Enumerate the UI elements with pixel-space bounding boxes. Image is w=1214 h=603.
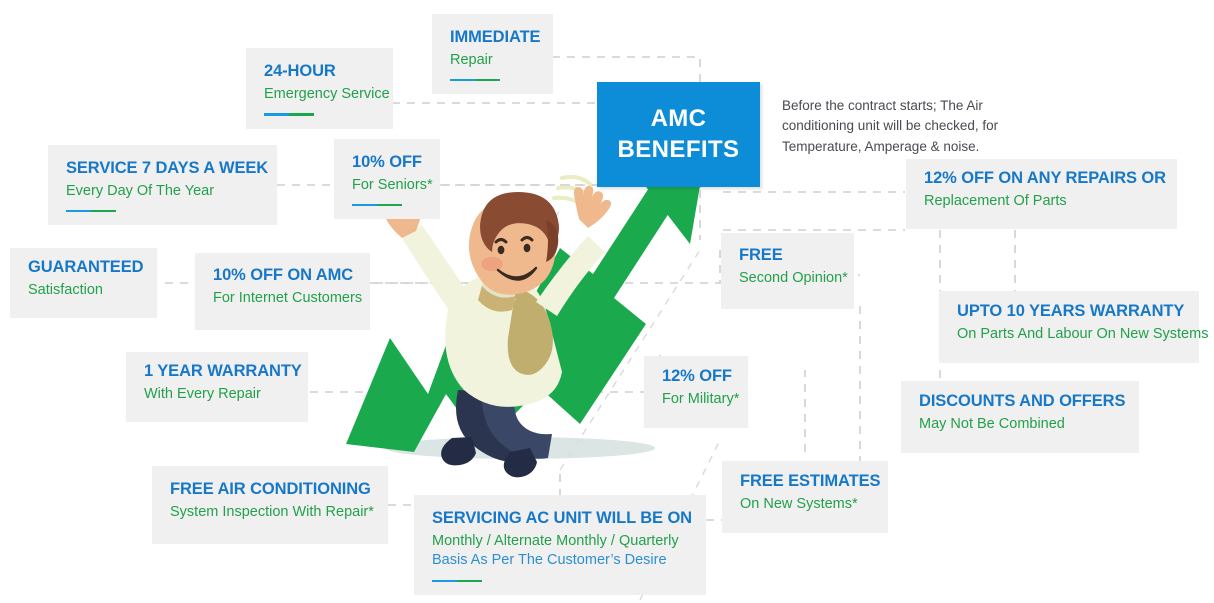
card-underline xyxy=(450,79,500,81)
card-subtitle: System Inspection With Repair* xyxy=(170,503,370,523)
card-title: FREE AIR CONDITIONING xyxy=(170,480,370,500)
card-subtitle: May Not Be Combined xyxy=(919,415,1121,435)
card-subtitle: On New Systems* xyxy=(740,495,870,515)
card-title: DISCOUNTS AND OFFERS xyxy=(919,392,1121,412)
card-title: GUARANTEED xyxy=(28,258,139,278)
card-title: 10% OFF xyxy=(352,153,422,173)
card-subtitle: Every Day Of The Year xyxy=(66,182,259,202)
benefit-card-12-off-military[interactable]: 12% OFF For Military* xyxy=(644,356,748,428)
card-subtitle: Repair xyxy=(450,51,535,71)
benefit-card-free-estimates[interactable]: FREE ESTIMATES On New Systems* xyxy=(722,461,888,533)
card-subtitle-secondary: Basis As Per The Customer’s Desire xyxy=(432,551,688,571)
hub-title: AMC BENEFITS xyxy=(597,104,760,165)
card-title: UPTO 10 YEARS WARRANTY xyxy=(957,302,1181,322)
card-subtitle: Replacement Of Parts xyxy=(924,192,1159,212)
card-title: FREE xyxy=(739,246,836,266)
card-title: 12% OFF xyxy=(662,367,730,387)
card-title: IMMEDIATE xyxy=(450,28,535,48)
amc-benefits-infographic: AMC BENEFITS Before the contract starts;… xyxy=(0,0,1214,603)
card-underline xyxy=(432,580,482,582)
card-subtitle: For Internet Customers xyxy=(213,289,352,309)
benefit-card-24-hour-emergency[interactable]: 24-HOUR Emergency Service xyxy=(246,48,393,129)
cheek xyxy=(481,257,503,271)
benefit-card-immediate-repair[interactable]: IMMEDIATE Repair xyxy=(432,14,553,94)
benefit-card-10-off-seniors[interactable]: 10% OFF For Seniors* xyxy=(334,139,440,219)
card-underline xyxy=(264,113,314,116)
card-title: FREE ESTIMATES xyxy=(740,472,870,492)
card-subtitle: Satisfaction xyxy=(28,281,139,301)
benefit-card-10-off-amc[interactable]: 10% OFF ON AMC For Internet Customers xyxy=(195,253,370,330)
card-subtitle: For Military* xyxy=(662,390,730,410)
card-subtitle: Second Opinion* xyxy=(739,269,836,289)
card-subtitle: With Every Repair xyxy=(144,385,290,405)
amc-benefits-hub[interactable]: AMC BENEFITS xyxy=(597,82,760,187)
benefit-card-upto-10-years-warranty[interactable]: UPTO 10 YEARS WARRANTY On Parts And Labo… xyxy=(939,291,1199,363)
benefit-card-guaranteed-satisfaction[interactable]: GUARANTEED Satisfaction xyxy=(10,248,157,318)
benefit-card-free-second-opinion[interactable]: FREE Second Opinion* xyxy=(721,233,854,309)
contract-note: Before the contract starts; The Air cond… xyxy=(782,96,1012,157)
card-title: 10% OFF ON AMC xyxy=(213,266,352,286)
card-title: 1 YEAR WARRANTY xyxy=(144,362,290,382)
benefit-card-discounts-and-offers[interactable]: DISCOUNTS AND OFFERS May Not Be Combined xyxy=(901,381,1139,453)
benefit-card-12-off-repairs[interactable]: 12% OFF ON ANY REPAIRS OR Replacement Of… xyxy=(906,159,1177,229)
card-title: SERVICING AC UNIT WILL BE ON xyxy=(432,509,688,529)
benefit-card-free-air-conditioning[interactable]: FREE AIR CONDITIONING System Inspection … xyxy=(152,466,388,544)
card-subtitle: Emergency Service xyxy=(264,85,375,105)
benefit-card-1-year-warranty[interactable]: 1 YEAR WARRANTY With Every Repair xyxy=(126,352,308,422)
card-subtitle: For Seniors* xyxy=(352,176,422,196)
card-subtitle: Monthly / Alternate Monthly / Quarterly xyxy=(432,532,688,552)
benefit-card-service-7-days[interactable]: SERVICE 7 DAYS A WEEK Every Day Of The Y… xyxy=(48,145,277,225)
card-subtitle: On Parts And Labour On New Systems xyxy=(957,325,1181,345)
card-underline xyxy=(352,204,402,206)
card-underline xyxy=(66,210,116,212)
card-title: SERVICE 7 DAYS A WEEK xyxy=(66,159,259,179)
card-title: 12% OFF ON ANY REPAIRS OR xyxy=(924,169,1159,189)
benefit-card-servicing-ac-unit[interactable]: SERVICING AC UNIT WILL BE ON Monthly / A… xyxy=(414,495,706,595)
card-title: 24-HOUR xyxy=(264,62,375,82)
